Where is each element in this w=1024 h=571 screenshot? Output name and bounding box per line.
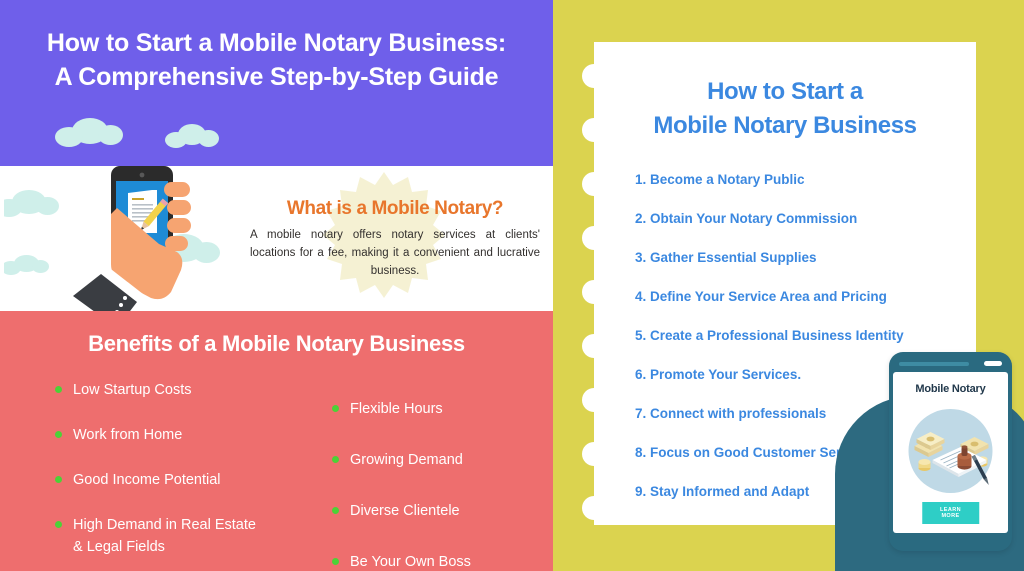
benefits-panel: Benefits of a Mobile Notary Business Low… <box>0 311 553 571</box>
bullet-icon <box>332 405 339 412</box>
benefit-label: Be Your Own Boss <box>350 551 471 571</box>
learn-more-button[interactable]: LEARN MORE <box>922 502 980 524</box>
list-item: Flexible Hours <box>332 398 553 420</box>
page-title: How to Start a Mobile Notary Business: A… <box>0 26 553 94</box>
phone-screen: Mobile Notary <box>893 372 1008 533</box>
list-item: 1. Become a Notary Public <box>635 172 965 187</box>
cloud-icon <box>12 190 46 214</box>
infographic-root: How to Start a Mobile Notary Business: A… <box>0 0 1024 571</box>
definition-heading: What is a Mobile Notary? <box>250 198 540 220</box>
steps-title-line2: Mobile Notary Business <box>653 112 916 139</box>
list-item: 4. Define Your Service Area and Pricing <box>635 289 965 304</box>
list-item: Low Startup Costs <box>55 379 276 401</box>
hand-holding-phone-illustration <box>59 166 259 311</box>
cloud-icon <box>178 124 206 145</box>
benefit-label: Diverse Clientele <box>350 500 460 522</box>
list-item: Be Your Own Boss <box>332 551 553 571</box>
phone-bottom-bezel <box>893 533 1008 547</box>
benefit-label: Low Startup Costs <box>73 379 191 401</box>
benefits-columns: Low Startup Costs Work from Home Good In… <box>0 374 553 564</box>
steps-card-title: How to Start a Mobile Notary Business <box>594 75 976 143</box>
notary-documents-illustration <box>898 406 1003 496</box>
status-bar-line <box>899 362 969 366</box>
phone-app-title: Mobile Notary <box>893 372 1008 395</box>
steps-title-line1: How to Start a <box>707 78 863 105</box>
punch-hole-icon <box>582 64 606 88</box>
punch-hole-icon <box>582 496 606 520</box>
definition-card: What is a Mobile Notary? A mobile notary… <box>4 166 553 311</box>
status-bar-indicator <box>984 361 1002 366</box>
cloud-icon <box>14 255 39 272</box>
punch-hole-icon <box>582 388 606 412</box>
punch-hole-icon <box>582 280 606 304</box>
bullet-icon <box>55 521 62 528</box>
bullet-icon <box>55 476 62 483</box>
benefit-label: Good Income Potential <box>73 469 221 491</box>
punch-hole-icon <box>582 334 606 358</box>
list-item: 3. Gather Essential Supplies <box>635 250 965 265</box>
list-item: Diverse Clientele <box>332 500 553 522</box>
benefits-title: Benefits of a Mobile Notary Business <box>0 331 553 357</box>
punch-holes <box>594 42 618 525</box>
list-item: High Demand in Real Estate & Legal Field… <box>55 514 276 558</box>
bullet-icon <box>332 507 339 514</box>
cloud-icon <box>72 118 108 144</box>
definition-text-block: What is a Mobile Notary? A mobile notary… <box>250 198 540 280</box>
punch-hole-icon <box>582 442 606 466</box>
bullet-icon <box>332 558 339 565</box>
punch-hole-icon <box>582 172 606 196</box>
left-column: How to Start a Mobile Notary Business: A… <box>0 0 553 571</box>
phone-status-bar <box>893 356 1008 372</box>
benefit-label: High Demand in Real Estate & Legal Field… <box>73 514 263 558</box>
list-item: 5. Create a Professional Business Identi… <box>635 328 965 343</box>
punch-hole-icon <box>582 226 606 250</box>
bullet-icon <box>55 386 62 393</box>
list-item: Good Income Potential <box>55 469 276 491</box>
bullet-icon <box>55 431 62 438</box>
list-item: Work from Home <box>55 424 276 446</box>
benefit-label: Work from Home <box>73 424 182 446</box>
benefit-label: Growing Demand <box>350 449 463 471</box>
bullet-icon <box>332 456 339 463</box>
benefit-label: Flexible Hours <box>350 398 443 420</box>
definition-body: A mobile notary offers notary services a… <box>250 226 540 280</box>
list-item: 2. Obtain Your Notary Commission <box>635 211 965 226</box>
page-title-line2: A Comprehensive Step-by-Step Guide <box>0 60 553 94</box>
punch-hole-icon <box>582 118 606 142</box>
right-column: How to Start a Mobile Notary Business 1.… <box>553 0 1024 571</box>
phone-mockup: Mobile Notary <box>889 352 1012 551</box>
header-panel: How to Start a Mobile Notary Business: A… <box>0 0 553 166</box>
page-title-line1: How to Start a Mobile Notary Business: <box>47 29 506 57</box>
benefits-column-left: Low Startup Costs Work from Home Good In… <box>0 374 276 564</box>
list-item: Growing Demand <box>332 449 553 471</box>
benefits-column-right: Flexible Hours Growing Demand Diverse Cl… <box>276 374 553 564</box>
